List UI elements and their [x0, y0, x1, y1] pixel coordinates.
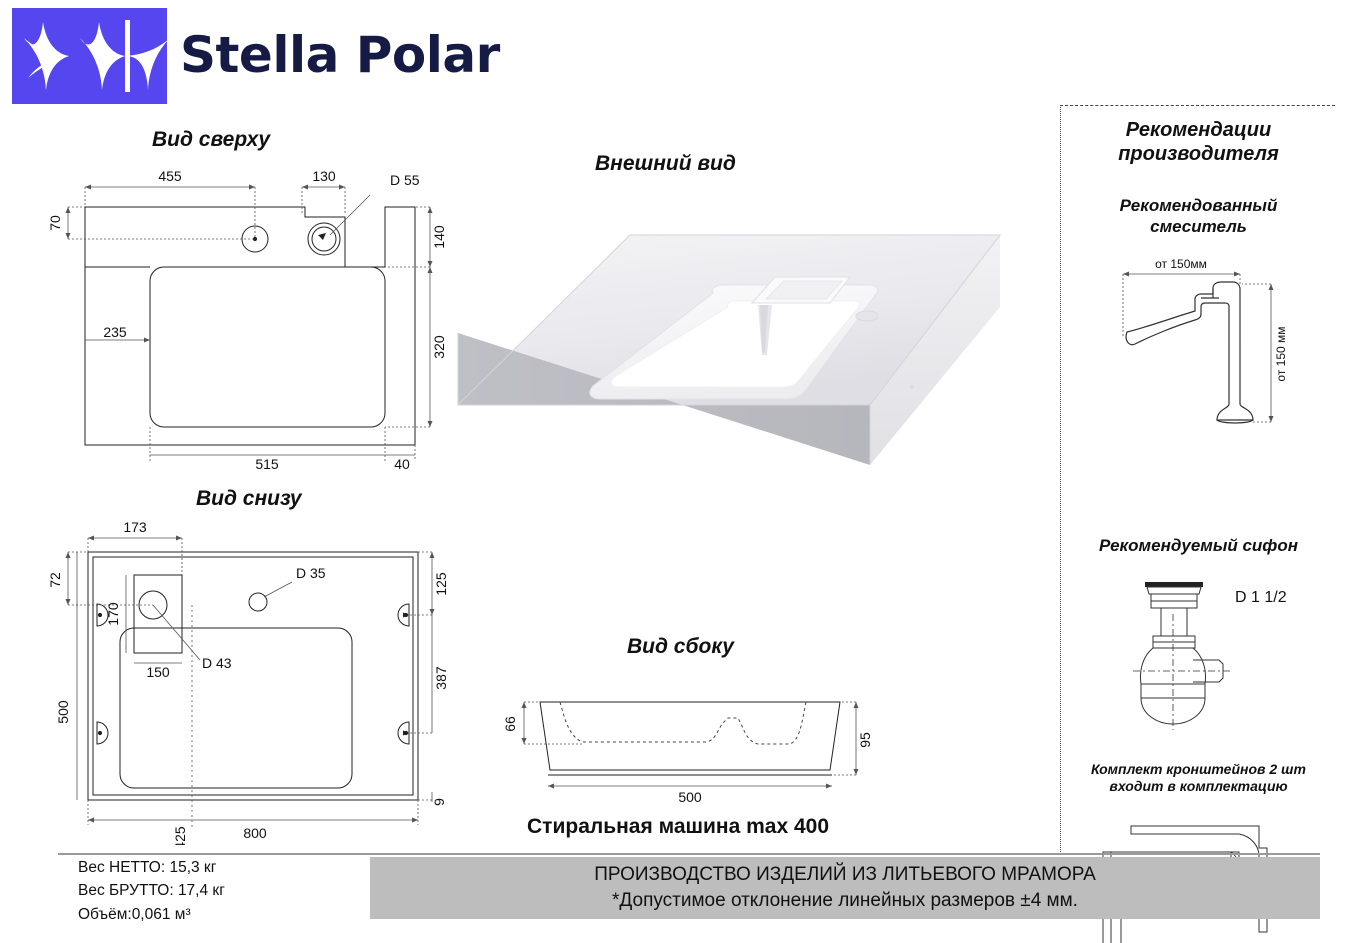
side-view-drawing: 66 95 500 — [490, 690, 910, 815]
weight-info: Вес НЕТТО: 15,3 кг Вес БРУТТО: 17,4 кг О… — [78, 856, 358, 926]
production-banner-line1: ПРОИЗВОДСТВО ИЗДЕЛИЙ ИЗ ЛИТЬЕВОГО МРАМОР… — [594, 862, 1096, 888]
mixer-heading: Рекомендованный смеситель — [1061, 196, 1336, 237]
recommendations-title-line1: Рекомендации — [1061, 118, 1336, 142]
mixer-heading-line2: смеситель — [1061, 217, 1336, 238]
weight-net: Вес НЕТТО: 15,3 кг — [78, 856, 358, 879]
dim-425: 425 — [172, 826, 188, 845]
dim-235: 235 — [103, 324, 127, 340]
production-banner-line2: *Допустимое отклонение линейных размеров… — [612, 888, 1078, 914]
mixer-height-label: от 150 мм — [1274, 326, 1288, 381]
mixer-heading-line1: Рекомендованный — [1061, 196, 1336, 217]
dim-500: 500 — [55, 700, 71, 724]
dim-70: 70 — [47, 215, 63, 231]
side-view-title: Вид сбоку — [627, 635, 734, 659]
footer-divider — [58, 853, 1320, 855]
recommendations-title-line2: производителя — [1061, 142, 1336, 166]
brand-name: Stella Polar — [180, 26, 500, 84]
dim-173: 173 — [123, 520, 147, 535]
dim-9: 9 — [431, 798, 447, 806]
dim-d35: D 35 — [296, 565, 326, 581]
dim-125: 125 — [433, 572, 449, 596]
brackets-heading-line1: Комплект кронштейнов 2 шт — [1061, 761, 1336, 778]
bottom-view-title: Вид снизу — [196, 487, 302, 511]
dim-515: 515 — [255, 456, 279, 472]
dim-387: 387 — [433, 666, 449, 690]
dim-d43: D 43 — [202, 655, 232, 671]
dim-170: 170 — [105, 602, 121, 626]
washing-machine-note: Стиральная машина max 400 — [527, 815, 829, 839]
brackets-heading-line2: входит в комплектацию — [1061, 778, 1336, 795]
dim-150: 150 — [146, 664, 170, 680]
mixer-width-label: от 150мм — [1155, 257, 1207, 271]
dim-40: 40 — [394, 456, 410, 472]
brackets-heading: Комплект кронштейнов 2 шт входит в компл… — [1061, 761, 1336, 795]
production-banner: ПРОИЗВОДСТВО ИЗДЕЛИЙ ИЗ ЛИТЬЕВОГО МРАМОР… — [370, 857, 1320, 919]
external-view-drawing — [440, 215, 1050, 535]
dim-side-500: 500 — [678, 789, 702, 805]
bottom-view-drawing: 173 72 170 150 D 43 D 35 500 125 387 9 4… — [40, 520, 460, 845]
volume: Объём:0,061 м³ — [78, 903, 358, 926]
brand-logo-icon — [12, 8, 167, 104]
external-view-title: Внешний вид — [595, 152, 736, 176]
top-view-drawing: 455 130 D 55 70 140 320 235 515 40 — [40, 155, 460, 475]
dim-72: 72 — [47, 572, 63, 588]
mixer-drawing: от 150мм от 150 мм — [1109, 254, 1309, 444]
dim-side-95: 95 — [857, 732, 873, 748]
dim-d55: D 55 — [390, 172, 420, 188]
manufacturer-recommendations-panel: Рекомендации производителя Рекомендованн… — [1060, 105, 1335, 852]
recommendations-title: Рекомендации производителя — [1061, 118, 1336, 167]
dim-455: 455 — [158, 168, 182, 184]
dim-66: 66 — [502, 716, 518, 732]
dim-130: 130 — [312, 168, 336, 184]
siphon-diameter-label: D 1 1/2 — [1235, 589, 1287, 606]
siphon-heading: Рекомендуемый сифон — [1061, 536, 1336, 557]
weight-gross: Вес БРУТТО: 17,4 кг — [78, 879, 358, 902]
top-view-title: Вид сверху — [152, 128, 270, 152]
dim-800: 800 — [243, 825, 267, 841]
siphon-drawing: D 1 1/2 — [1123, 574, 1303, 734]
spec-sheet-page: Stella Polar Вид сверху — [0, 0, 1350, 943]
